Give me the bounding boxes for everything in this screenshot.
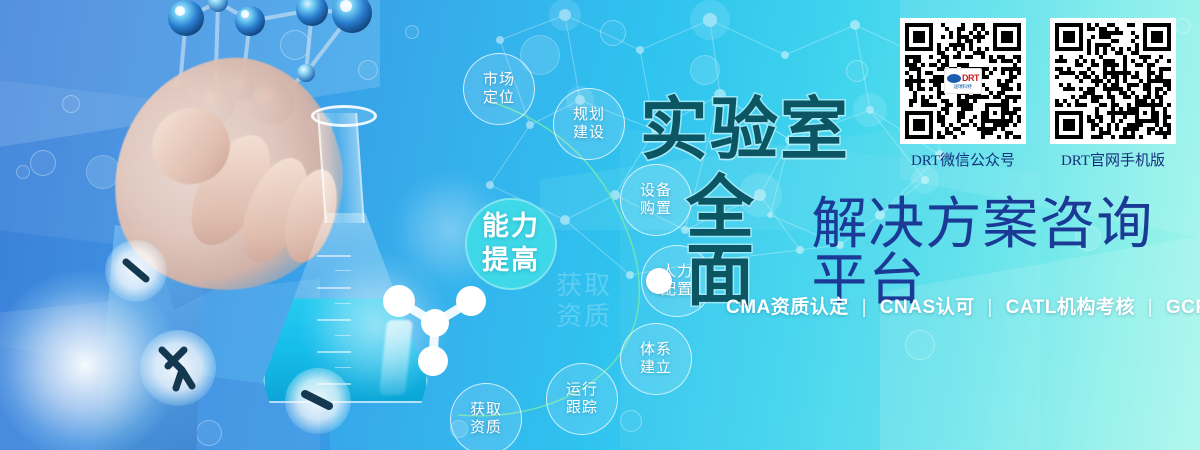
bubble-line-1: 市场	[483, 71, 515, 89]
qr-item-wechat-official-account[interactable]: DRT 迪瑞科特 DRT微信公众号	[900, 18, 1026, 170]
qr-code-group: DRT 迪瑞科特 DRT微信公众号 DRT官网手机版	[900, 18, 1190, 170]
qr-item-mobile-website[interactable]: DRT官网手机版	[1050, 18, 1176, 170]
highlight-bubble-capability-improvement[interactable]: 能力 提高	[465, 198, 557, 290]
bubble-line-1: 体系	[640, 341, 672, 359]
certification-item: CATL机构考核	[1006, 297, 1135, 318]
qr-code-label: DRT微信公众号	[900, 149, 1026, 170]
bubble-line-1: 获取	[470, 401, 502, 419]
bubble-line-1: 运行	[566, 381, 598, 399]
logo-mark-text: DRT	[962, 74, 979, 83]
flask-neck	[317, 113, 365, 223]
bullet-dot-icon	[646, 268, 672, 294]
company-logo: DRT 迪瑞科特	[944, 68, 982, 94]
certification-separator: |	[1148, 297, 1153, 318]
process-bubble-obtain-qualification[interactable]: 获取 资质	[450, 383, 522, 450]
qr-code-box[interactable]	[1050, 18, 1176, 144]
bubble-line-2: 资质	[470, 419, 502, 437]
qr-code-label: DRT官网手机版	[1050, 149, 1176, 170]
ghost-watermark-text: 获取 资质	[556, 270, 612, 332]
bubble-line-1: 规划	[573, 106, 605, 124]
ghost-line-2: 资质	[556, 301, 612, 332]
bubble-line-2: 建设	[573, 124, 605, 142]
qr-code-image	[1055, 23, 1171, 139]
process-bubble-market-positioning[interactable]: 市场 定位	[463, 53, 535, 125]
certification-item: CMA资质认定	[726, 297, 849, 318]
bubble-line-2: 建立	[640, 359, 672, 377]
chromosome-icon	[117, 252, 157, 292]
certification-item: CNAS认可	[880, 297, 975, 318]
certification-item: GCP认证	[1166, 297, 1200, 318]
process-bubble-operation-tracking[interactable]: 运行 跟踪	[546, 363, 618, 435]
certification-separator: |	[987, 297, 992, 318]
bubble-line-2: 定位	[483, 89, 515, 107]
chromosome-icon	[152, 342, 206, 396]
ghost-line-1: 获取	[556, 270, 612, 301]
logo-oval-icon	[947, 74, 961, 83]
bubble-line-2: 跟踪	[566, 399, 598, 417]
laboratory-solution-banner: 获取 资质 市场 定位 规划 建设 设备 购置 人力 配置 体系 建立 运行 跟…	[0, 0, 1200, 450]
qr-code-box[interactable]: DRT 迪瑞科特	[900, 18, 1026, 144]
process-bubble-planning-construction[interactable]: 规划 建设	[553, 88, 625, 160]
headline-line-2: 全面 解决方案咨询平台	[640, 174, 1200, 310]
highlight-bubble-line-2: 提高	[482, 244, 540, 278]
headline-line-2-strong: 全面	[686, 174, 805, 310]
highlight-bubble-line-1: 能力	[482, 210, 540, 244]
logo-chinese-text: 迪瑞科特	[954, 85, 972, 90]
certification-list: CMA资质认定 | CNAS认可 | CATL机构考核 | GCP认证 | 6S…	[726, 292, 1200, 319]
process-bubble-system-establishment[interactable]: 体系 建立	[620, 323, 692, 395]
chromosome-icon	[297, 382, 341, 424]
certification-separator: |	[862, 297, 867, 318]
